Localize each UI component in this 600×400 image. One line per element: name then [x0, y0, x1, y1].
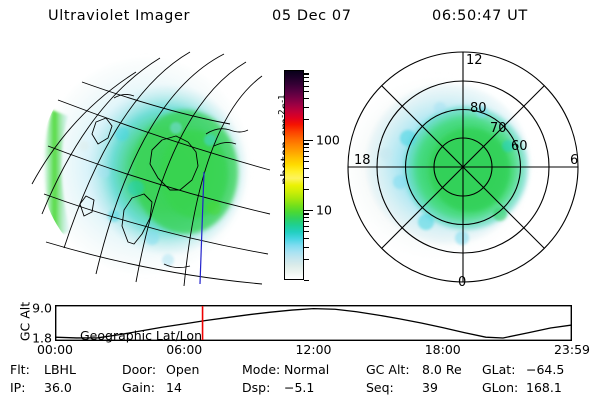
orbit-xtick-label: 23:59 — [554, 342, 590, 357]
orbit-xtick-label: 00:00 — [37, 342, 73, 357]
colorbar-minor-tick — [304, 221, 309, 222]
colorbar-gradient[interactable] — [284, 70, 304, 280]
polar-plot-svg: 12 6 0 18 60 70 80 — [342, 42, 588, 292]
status-key: GLat: — [482, 362, 515, 377]
polar-mlat-label-70: 70 — [490, 121, 507, 136]
orbit-altitude-curve — [55, 309, 572, 338]
status-value: 168.1 — [526, 380, 562, 395]
colorbar-minor-tick — [304, 189, 309, 190]
status-value: 36.0 — [44, 380, 72, 395]
colorbar-tick-label: 10 — [316, 203, 332, 218]
apex-polar-panel[interactable]: 12 6 0 18 60 70 80 Apex MLat/MLT — [342, 42, 588, 292]
colorbar-minor-tick — [304, 213, 309, 214]
geographic-image-panel[interactable]: Geographic Lat/Lon — [18, 38, 270, 290]
status-key: Seq: — [366, 380, 394, 395]
colorbar-minor-tick — [304, 147, 309, 148]
colorbar-minor-tick — [304, 119, 309, 120]
colorbar-minor-tick — [304, 177, 309, 178]
orbit-xtick-label: 06:00 — [166, 342, 202, 357]
colorbar-minor-tick — [304, 143, 309, 144]
colorbar-minor-tick — [304, 86, 309, 87]
colorbar-minor-tick — [304, 77, 309, 78]
polar-mlt-label-0: 0 — [458, 275, 466, 290]
observation-time: 06:50:47 UT — [432, 8, 528, 24]
colorbar-minor-tick — [304, 226, 309, 227]
colorbar-minor-tick — [304, 156, 309, 157]
colorbar-minor-tick — [304, 168, 309, 169]
polar-mlat-label-80: 80 — [470, 101, 487, 116]
status-value: 14 — [166, 380, 182, 395]
colorbar-minor-tick — [304, 247, 309, 248]
orbit-altitude-chart — [55, 305, 572, 341]
status-value: Open — [166, 362, 199, 377]
polar-mlt-label-18: 18 — [354, 153, 371, 168]
status-key: GC Alt: — [366, 362, 410, 377]
colorbar-minor-tick — [304, 238, 309, 239]
polar-mlt-spokes — [348, 52, 578, 282]
status-key: IP: — [10, 380, 25, 395]
colorbar-group: photon cm-2s-1 10010 — [258, 58, 344, 294]
orbit-chart-frame — [56, 306, 572, 341]
colorbar-minor-tick — [304, 91, 309, 92]
status-value: Normal — [284, 362, 329, 377]
polar-mlt-label-12: 12 — [466, 53, 483, 68]
geographic-aurora-layer — [42, 58, 250, 274]
orbit-xtick-label: 18:00 — [425, 342, 461, 357]
status-key: Flt: — [10, 362, 30, 377]
polar-mlt-label-6: 6 — [570, 153, 578, 168]
colorbar-minor-tick — [304, 259, 309, 260]
observation-date: 05 Dec 07 — [272, 8, 352, 24]
polar-mlat-label-60: 60 — [511, 139, 528, 154]
geographic-plot-svg — [18, 38, 270, 290]
colorbar-minor-tick — [304, 280, 309, 281]
uvi-application-window: Ultraviolet Imager 05 Dec 07 06:50:47 UT — [0, 0, 600, 400]
status-value: 8.0 Re — [422, 362, 462, 377]
colorbar-minor-tick — [304, 81, 309, 82]
orbit-ytick-label: 9.0 — [32, 301, 52, 316]
colorbar-minor-tick — [304, 231, 309, 232]
status-key: GLon: — [482, 380, 518, 395]
colorbar-minor-tick — [304, 217, 309, 218]
orbit-ytick-group: 9.01.8 — [0, 300, 52, 340]
status-key: Door: — [122, 362, 156, 377]
colorbar-major-tick — [304, 210, 313, 211]
header-bar: Ultraviolet Imager 05 Dec 07 06:50:47 UT — [0, 4, 600, 30]
status-key: Gain: — [122, 380, 155, 395]
polar-aurora-layer — [342, 76, 534, 260]
colorbar-major-tick — [304, 140, 313, 141]
colorbar-minor-tick — [304, 73, 309, 74]
instrument-title: Ultraviolet Imager — [48, 8, 190, 24]
colorbar-tick-label: 100 — [316, 133, 340, 148]
status-value: LBHL — [44, 362, 76, 377]
colorbar-fill — [285, 71, 303, 279]
status-value: 39 — [422, 380, 438, 395]
status-footer: Flt:LBHLDoor:OpenMode:NormalGC Alt:8.0 R… — [0, 362, 600, 400]
status-key: Mode: — [242, 362, 280, 377]
status-value: −64.5 — [526, 362, 564, 377]
status-value: −5.1 — [284, 380, 314, 395]
colorbar-minor-tick — [304, 161, 309, 162]
colorbar-minor-tick — [304, 151, 309, 152]
colorbar-minor-tick — [304, 107, 309, 108]
orbit-altitude-strip[interactable]: GC Alt 9.01.8 00:0006:0012:0018:0023:59 — [0, 300, 600, 360]
colorbar-minor-tick — [304, 98, 309, 99]
orbit-xtick-label: 12:00 — [295, 342, 331, 357]
status-key: Dsp: — [242, 380, 270, 395]
